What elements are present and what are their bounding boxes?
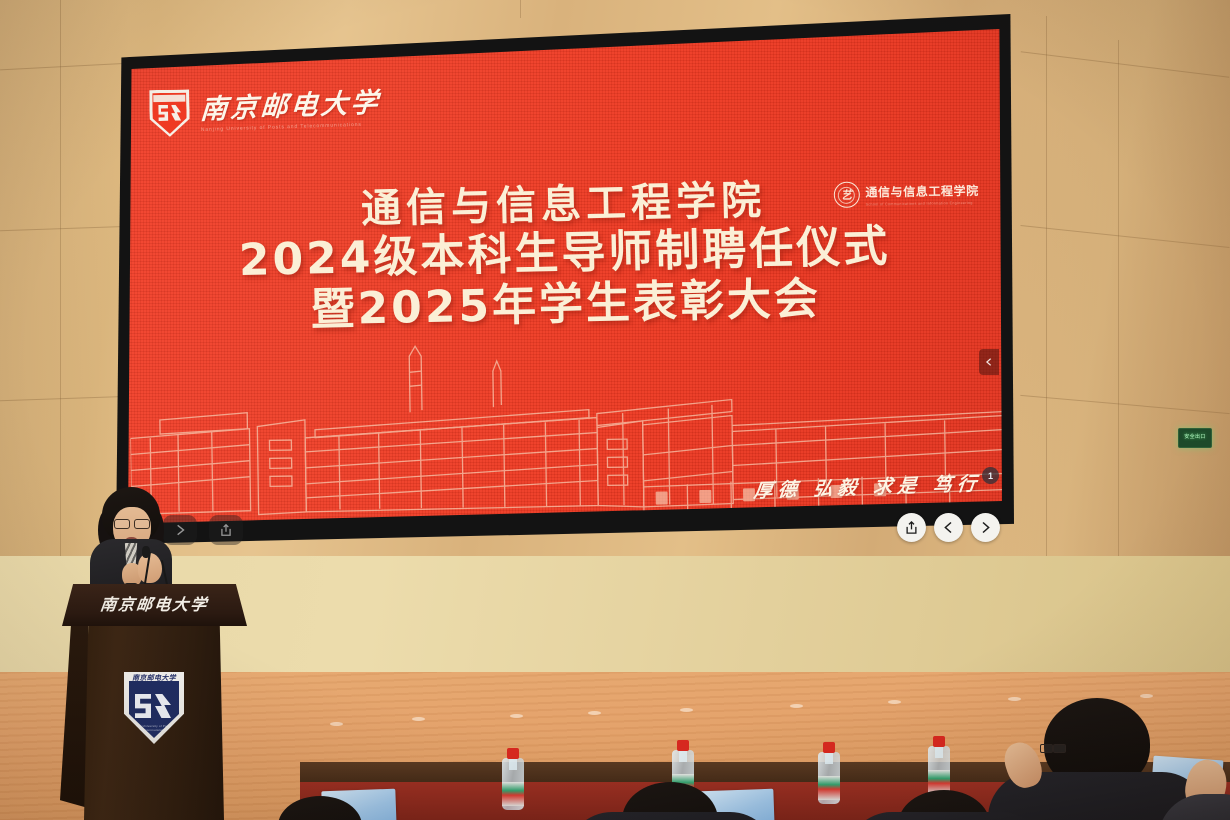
- page-indicator[interactable]: 1: [982, 467, 999, 484]
- glasses-icon: [1040, 744, 1066, 752]
- floor-marker: [1008, 697, 1021, 701]
- overlay-controls-right: [897, 513, 1000, 542]
- podium-university-label: 南京邮电大学: [61, 591, 249, 615]
- previous-button[interactable]: [934, 513, 963, 542]
- njupt-shield-emblem: 南京邮电大学 Nanjing University of Posts and T…: [149, 87, 381, 137]
- crest-name-en: Nanjing University of Posts and Telecomm…: [126, 724, 182, 732]
- wall-shading: [1000, 0, 1230, 640]
- glasses-icon: [114, 519, 150, 528]
- podium-top: 南京邮电大学: [62, 584, 247, 626]
- chevron-left-icon: [984, 357, 994, 367]
- share-icon: [904, 520, 919, 535]
- bottle-cap: [677, 740, 689, 751]
- bottle-cap: [933, 736, 945, 747]
- university-name-cn: 南京邮电大学: [199, 89, 381, 123]
- college-mark-glyph: 艺: [841, 187, 852, 203]
- floor-marker: [330, 722, 343, 726]
- emergency-exit-sign: 安全出口: [1178, 428, 1212, 448]
- floor-marker: [680, 708, 693, 712]
- floor-marker: [510, 714, 523, 718]
- water-bottle: [928, 736, 950, 798]
- next-button[interactable]: [971, 513, 1000, 542]
- chevron-right-icon: [978, 520, 993, 535]
- led-screen: 南京邮电大学 Nanjing University of Posts and T…: [128, 26, 1002, 526]
- water-bottle: [818, 742, 840, 804]
- bottle-cap: [823, 742, 835, 753]
- share-button[interactable]: [209, 515, 243, 545]
- event-title: 通信与信息工程学院 2024级本科生导师制聘任仪式 暨2025年学生表彰大会: [128, 174, 1002, 337]
- floor-marker: [1140, 694, 1153, 698]
- share-icon: [219, 523, 233, 537]
- floor-marker: [790, 704, 803, 708]
- njupt-crest: 南京邮电大学 Nanjing University of Posts and T…: [124, 672, 184, 744]
- chevron-left-icon: [941, 520, 956, 535]
- collapse-panel-tab[interactable]: [979, 349, 999, 375]
- shield-icon: [149, 90, 190, 138]
- floor-marker: [412, 717, 425, 721]
- water-bottle: [502, 748, 524, 810]
- wall-seam: [520, 0, 521, 18]
- floor-marker: [588, 711, 601, 715]
- share-button[interactable]: [897, 513, 926, 542]
- bottle-cap: [507, 748, 519, 759]
- exit-sign-label: 安全出口: [1184, 435, 1206, 441]
- microphone-head: [142, 546, 150, 558]
- floor-marker: [888, 700, 901, 704]
- auditorium-scene: 安全出口 南京邮电大学 Nanjing University of Posts …: [0, 0, 1230, 820]
